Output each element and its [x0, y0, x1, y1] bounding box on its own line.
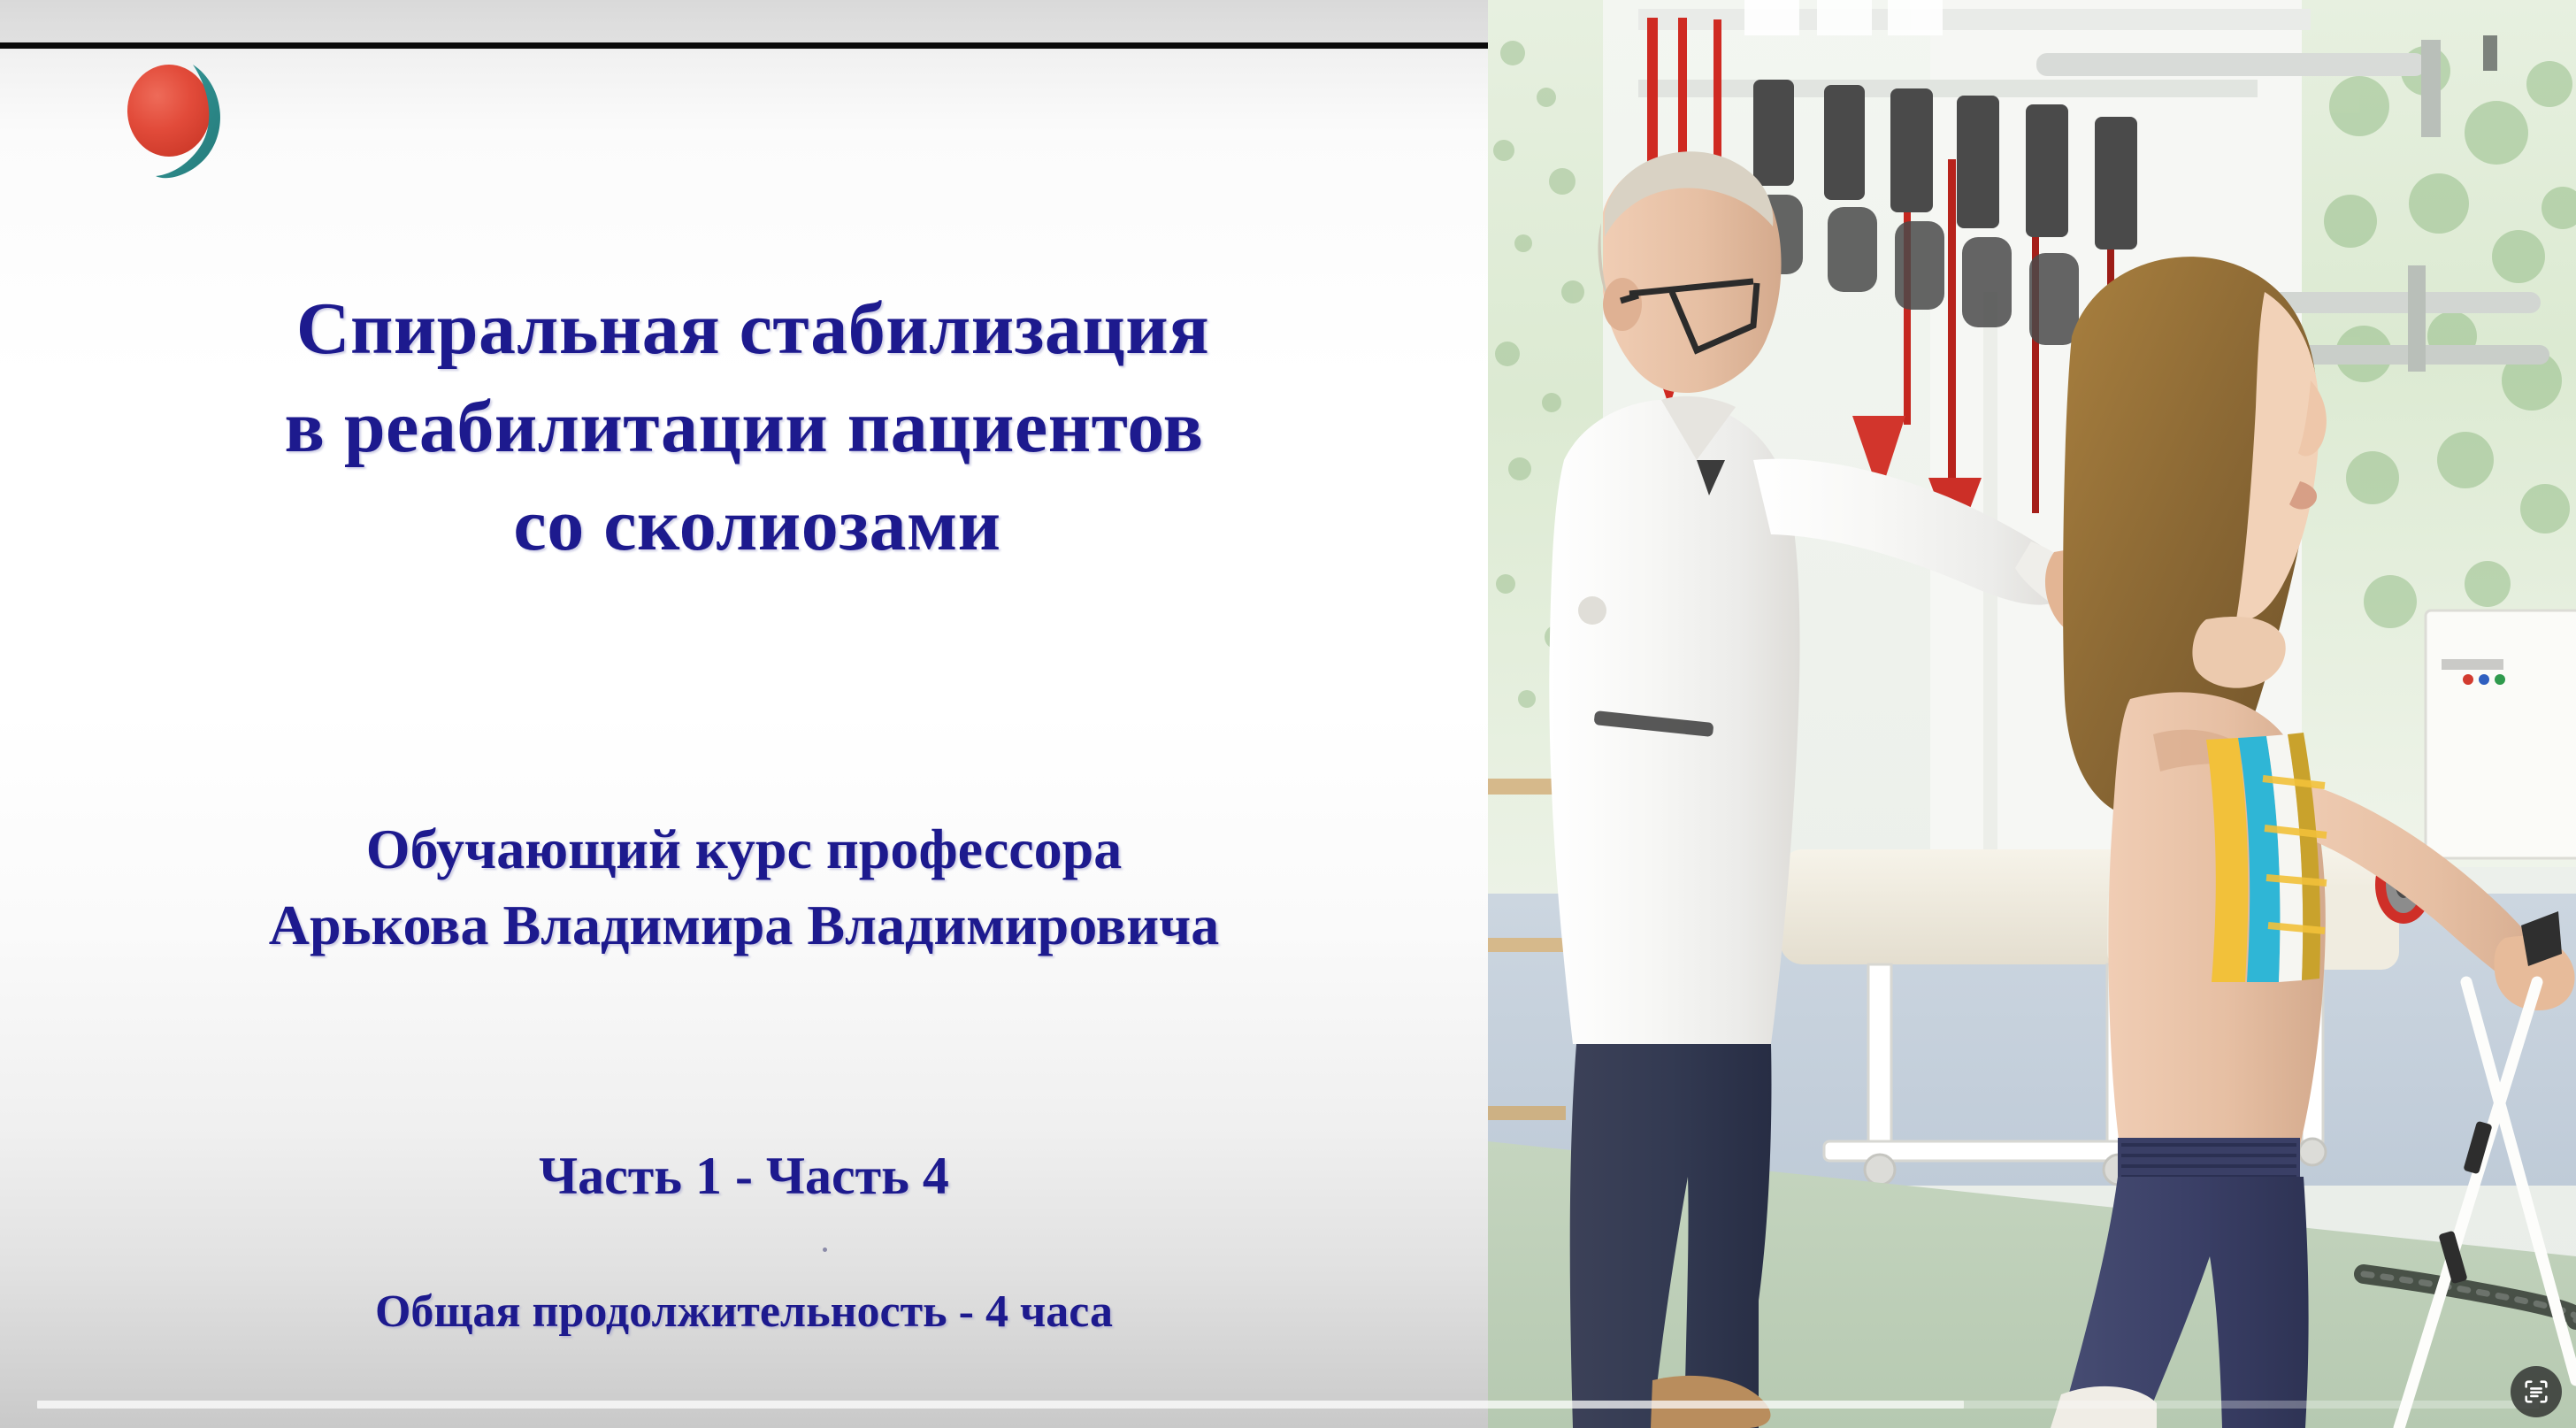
title-line-3: со сколиозами — [0, 477, 1488, 575]
author-line-2: Арькова Владимира Владимировича — [0, 887, 1488, 964]
playback-progress-fill — [37, 1401, 1964, 1409]
logo-crescent-icon — [154, 61, 242, 183]
slide-author: Обучающий курс профессора Арькова Владим… — [0, 811, 1488, 964]
slide-dot-mark — [823, 1248, 827, 1252]
title-line-2: в реабилитации пациентов — [0, 379, 1488, 477]
presentation-slide: Спиральная стабилизация в реабилитации п… — [0, 49, 1488, 1428]
slide-duration-label: Общая продолжительность - 4 часа — [0, 1286, 1488, 1338]
playback-progress-bar[interactable] — [37, 1401, 2539, 1409]
slide-parts-label: Часть 1 - Часть 4 — [0, 1146, 1488, 1207]
video-player-frame[interactable]: Спиральная стабилизация в реабилитации п… — [0, 0, 2576, 1428]
author-line-1: Обучающий курс профессора — [0, 811, 1488, 887]
title-line-1: Спиральная стабилизация — [0, 280, 1488, 379]
top-band — [0, 0, 1488, 42]
slide-title: Спиральная стабилизация в реабилитации п… — [0, 280, 1488, 575]
scan-text-icon — [2521, 1377, 2551, 1407]
spiral-stabilization-logo — [122, 58, 246, 186]
scan-text-button[interactable] — [2511, 1366, 2562, 1417]
clinic-photo — [1488, 0, 2576, 1428]
header-rule — [0, 42, 1488, 49]
